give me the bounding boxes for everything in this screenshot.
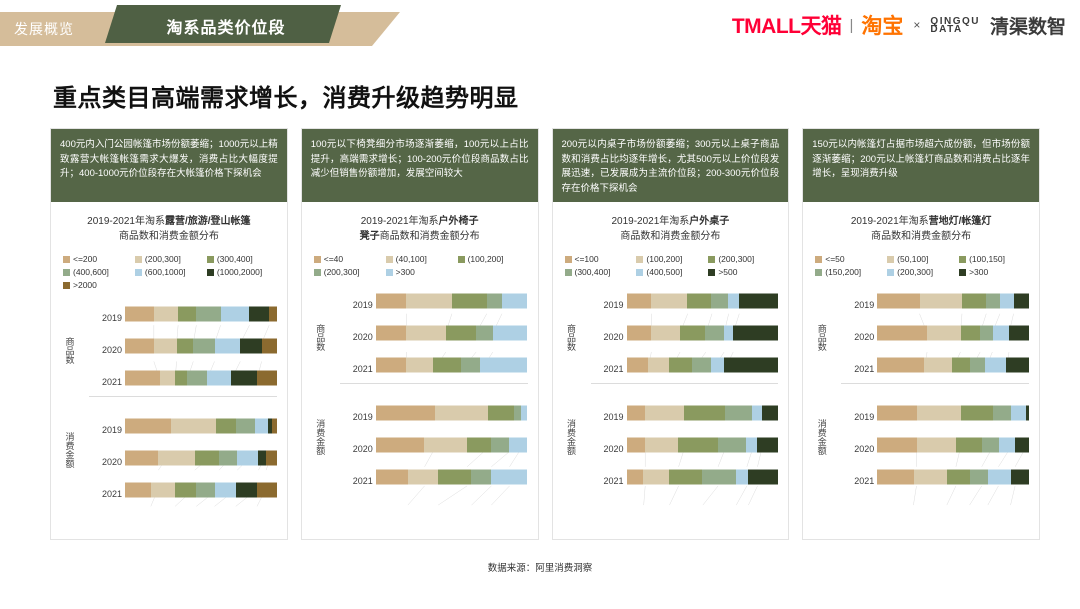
segment-connector-line [947, 486, 956, 505]
year-tick-label: 2021 [353, 364, 373, 374]
page-title: 重点类目高端需求增长，消费升级趋势明显 [53, 78, 519, 113]
chart-bar-segment [1026, 406, 1029, 421]
legend-label: (600,1000] [145, 267, 186, 277]
chart-bar-segment [376, 326, 406, 341]
stacked-bar-chart: 商品数消费金额201920202021201920202021 [559, 281, 783, 535]
chart-bar-segment [993, 406, 1011, 421]
chart-bar-segment [158, 451, 194, 466]
chart-bar-segment [627, 326, 651, 341]
legend-label: (200,300] [897, 267, 933, 277]
chart-bar-segment [718, 438, 747, 453]
chart-bar-segment [678, 438, 717, 453]
year-tick-label: 2020 [102, 345, 122, 355]
chart-group-axis: 商品数消费金额 [811, 285, 845, 529]
chart-bar-segment [487, 294, 502, 309]
chart-bar-segment [193, 339, 214, 354]
chart-bar-segment [952, 358, 970, 373]
legend-item[interactable]: (400,600] [63, 267, 133, 277]
year-tick-label: 2020 [353, 332, 373, 342]
chart-bar-segment [461, 358, 481, 373]
legend-item[interactable]: (200,300] [135, 254, 205, 264]
chart-bar[interactable] [376, 470, 528, 485]
legend-item[interactable]: >500 [708, 267, 778, 277]
chart-bar-segment [724, 358, 779, 373]
chart-bar-segment [877, 470, 913, 485]
chart-bar-segment [1011, 406, 1026, 421]
chart-bar[interactable] [627, 438, 779, 453]
chart-bar-segment [1009, 326, 1029, 341]
legend-swatch-icon [815, 256, 822, 263]
qingqu-data-logo: QINGQU DATA [930, 16, 980, 34]
group-separator [89, 396, 277, 397]
chart-bar-segment [262, 339, 277, 354]
chart-bar-segment [752, 406, 761, 421]
chart-bar-segment [196, 483, 214, 498]
tmall-logo: TMALL天猫 [732, 10, 842, 40]
chart-title-line1: 2019-2021年淘系户外椅子 [312, 215, 528, 230]
chart-bar[interactable] [376, 406, 528, 421]
panel-insight-note: 400元内入门公园帐篷市场份额萎缩；1000元以上精致露营大帐篷帐篷需求大爆发，… [51, 129, 287, 202]
segment-connector-line [702, 486, 717, 505]
legend-item[interactable]: (150,200] [815, 267, 885, 277]
year-tick-label: 2019 [603, 300, 623, 310]
chart-bar-segment [215, 483, 236, 498]
chart-bar[interactable] [125, 451, 277, 466]
year-tick-label: 2021 [854, 364, 874, 374]
chart-bar[interactable] [125, 483, 277, 498]
segment-connector-line [491, 486, 509, 505]
chart-bar-segment [488, 406, 514, 421]
chart-bar-segment [739, 294, 778, 309]
chart-bar-segment [171, 419, 217, 434]
chart-legend: <=50(50,100](100,150](150,200](200,300]>… [809, 248, 1033, 281]
legend-label: (200,300] [324, 267, 360, 277]
chart-bar-segment [509, 438, 527, 453]
legend-label: <=100 [575, 254, 599, 264]
chart-bar-segment [1006, 358, 1029, 373]
chart-bar[interactable] [125, 419, 277, 434]
chart-bar-segment [219, 451, 237, 466]
axis-group-label: 商品数 [314, 299, 328, 375]
chart-bar-segment [272, 419, 277, 434]
axis-group-label: 消费金额 [314, 399, 328, 475]
chart-bar-segment [175, 371, 187, 386]
legend-item[interactable]: (100,150] [959, 254, 1029, 264]
year-tick-label: 2021 [353, 476, 373, 486]
chart-bar-segment [993, 326, 1010, 341]
segment-connector-line [970, 486, 982, 505]
chart-bar-segment [645, 406, 684, 421]
chart-bar-segment [627, 358, 648, 373]
axis-group-label: 商品数 [63, 312, 77, 388]
chart-title-line2: 商品数和消费金额分布 [813, 230, 1029, 245]
legend-item[interactable]: <=50 [815, 254, 885, 264]
legend-item[interactable]: (200,300] [314, 267, 384, 277]
chart-bar-segment [376, 470, 408, 485]
year-tick-label: 2019 [353, 300, 373, 310]
axis-group-label: 商品数 [815, 299, 829, 375]
logo-cross-icon: × [913, 18, 920, 32]
chart-title: 2019-2021年淘系露营/旅游/登山帐篷商品数和消费金额分布 [57, 208, 281, 248]
stacked-bar-chart: 商品数消费金额201920202021201920202021 [809, 281, 1033, 535]
chart-bar[interactable] [877, 406, 1029, 421]
chart-year-axis: 201920202021201920202021 [845, 285, 877, 529]
chart-bar-segment [258, 451, 266, 466]
chart-bar-segment [125, 451, 158, 466]
legend-item[interactable]: (100,200] [458, 254, 528, 264]
legend-item[interactable]: <=40 [314, 254, 384, 264]
chart-bar[interactable] [877, 358, 1029, 373]
chart-bar-segment [705, 326, 723, 341]
qingqu-logo-cn: 清渠数智 [990, 12, 1066, 39]
legend-label: (200,300] [145, 254, 181, 264]
chart-bar-segment [269, 307, 277, 322]
chart-title-line1: 2019-2021年淘系露营/旅游/登山帐篷 [61, 215, 277, 230]
chart-bar-segment [502, 294, 528, 309]
axis-group-label: 商品数 [565, 299, 579, 375]
chart-bar-segment [970, 358, 985, 373]
chart-bar-segment [687, 294, 711, 309]
chart-bar[interactable] [376, 358, 528, 373]
legend-label: (100,200] [468, 254, 504, 264]
legend-label: (150,200] [825, 267, 861, 277]
year-tick-label: 2019 [854, 412, 874, 422]
chart-bar-segment [914, 470, 947, 485]
chart-year-axis: 201920202021201920202021 [344, 285, 376, 529]
chart-bar[interactable] [627, 326, 779, 341]
chart-bar-segment [643, 470, 669, 485]
chart-bar-segment [125, 371, 160, 386]
panel-body: 2019-2021年淘系户外桌子商品数和消费金额分布<=100(100,200]… [553, 202, 789, 539]
chart-legend: <=100(100,200](200,300](300,400](400,500… [559, 248, 783, 281]
chart-bar[interactable] [376, 294, 528, 309]
legend-label: >500 [718, 267, 737, 277]
chart-bar[interactable] [125, 307, 277, 322]
chart-bar-segment [961, 326, 981, 341]
chart-bar-segment [684, 406, 725, 421]
legend-item[interactable]: (300,400] [207, 254, 277, 264]
chart-title-line1: 2019-2021年淘系户外桌子 [563, 215, 779, 230]
chart-bar-segment [376, 406, 435, 421]
legend-label: (300,400] [575, 267, 611, 277]
chart-panel: 150元以内帐篷灯占据市场超六成份额，但市场份额逐渐萎缩；200元以上帐篷灯商品… [802, 128, 1040, 540]
chart-bar-segment [927, 326, 960, 341]
logo-separator: | [850, 17, 854, 34]
chart-bar-segment [257, 483, 277, 498]
legend-swatch-icon [386, 269, 393, 276]
chart-bar-segment [980, 326, 992, 341]
chart-bar-segment [160, 371, 175, 386]
chart-bar[interactable] [877, 294, 1029, 309]
chart-bar-segment [962, 294, 986, 309]
chart-bar-segment [125, 339, 154, 354]
legend-item[interactable]: (1000,2000] [207, 267, 277, 277]
chart-bar-segment [216, 419, 236, 434]
legend-swatch-icon [636, 256, 643, 263]
legend-item[interactable]: >300 [386, 267, 456, 277]
year-tick-label: 2019 [603, 412, 623, 422]
axis-group-label: 消费金额 [63, 412, 77, 488]
chart-bar-segment [1011, 470, 1029, 485]
legend-swatch-icon [887, 256, 894, 263]
chart-bar-segment [187, 371, 207, 386]
legend-swatch-icon [959, 256, 966, 263]
legend-item[interactable]: <=200 [63, 254, 133, 264]
brand-logo-group: TMALL天猫 | 淘宝 × QINGQU DATA 清渠数智 [732, 10, 1066, 40]
legend-label: <=40 [324, 254, 343, 264]
legend-label: (100,200] [646, 254, 682, 264]
legend-label: >2000 [73, 280, 97, 290]
chart-bar-segment [125, 419, 171, 434]
chart-bar-segment [376, 358, 406, 373]
chart-bar-segment [236, 483, 257, 498]
chart-bar-segment [491, 470, 527, 485]
chart-bar-segment [627, 470, 644, 485]
year-tick-label: 2021 [603, 476, 623, 486]
chart-bar-segment [467, 438, 491, 453]
panel-insight-note: 100元以下椅凳细分市场逐渐萎缩，100元以上占比提升，高端需求增长；100-2… [302, 129, 538, 202]
chart-bar-segment [231, 371, 257, 386]
chart-bar-segment [1014, 294, 1029, 309]
chart-bar-segment [961, 406, 993, 421]
legend-swatch-icon [458, 256, 465, 263]
page-header: 发展概览 淘系品类价位段 TMALL天猫 | 淘宝 × QINGQU DATA … [0, 0, 1080, 58]
chart-panels-row: 400元内入门公园帐篷市场份额萎缩；1000元以上精致露营大帐篷帐篷需求大爆发，… [50, 128, 1040, 540]
chart-plot-area [877, 285, 1029, 529]
legend-swatch-icon [135, 256, 142, 263]
chart-bar-segment [985, 358, 1006, 373]
year-tick-label: 2020 [854, 444, 874, 454]
legend-item[interactable]: (300,400] [565, 267, 635, 277]
chart-bar-segment [178, 307, 196, 322]
chart-bar-segment [1015, 438, 1029, 453]
segment-connector-line [643, 486, 645, 505]
legend-swatch-icon [887, 269, 894, 276]
legend-label: (40,100] [396, 254, 427, 264]
chart-bar-segment [237, 451, 258, 466]
chart-bar[interactable] [877, 438, 1029, 453]
chart-bar-segment [986, 294, 1000, 309]
chart-bar-segment [924, 358, 951, 373]
legend-label: (1000,2000] [217, 267, 262, 277]
legend-item[interactable]: >300 [959, 267, 1029, 277]
legend-item[interactable]: (40,100] [386, 254, 456, 264]
chart-bar-segment [748, 470, 778, 485]
year-tick-label: 2020 [603, 444, 623, 454]
chart-bar-segment [493, 326, 528, 341]
chart-bar-segment [476, 326, 493, 341]
chart-bar-segment [1000, 294, 1014, 309]
panel-insight-note: 200元以内桌子市场份额萎缩；300元以上桌子商品数和消费占比均逐年增长，尤其5… [553, 129, 789, 202]
chart-bar-segment [221, 307, 250, 322]
header-tab-label[interactable]: 发展概览 [14, 19, 74, 39]
legend-swatch-icon [959, 269, 966, 276]
chart-bar-segment [627, 438, 645, 453]
chart-bar-segment [249, 307, 269, 322]
year-tick-label: 2020 [603, 332, 623, 342]
chart-bar-segment [736, 470, 748, 485]
year-tick-label: 2019 [854, 300, 874, 310]
legend-swatch-icon [207, 256, 214, 263]
panel-body: 2019-2021年淘系露营/旅游/登山帐篷商品数和消费金额分布<=200(20… [51, 202, 287, 539]
segment-connector-line [748, 486, 757, 505]
segment-connector-line [408, 486, 425, 505]
legend-item[interactable]: (50,100] [887, 254, 957, 264]
legend-label: (200,300] [718, 254, 754, 264]
chart-bar-segment [877, 294, 919, 309]
chart-bar-segment [692, 358, 712, 373]
panel-insight-note: 150元以内帐篷灯占据市场超六成份额，但市场份额逐渐萎缩；200元以上帐篷灯商品… [803, 129, 1039, 202]
chart-bar-segment [680, 326, 706, 341]
chart-bar[interactable] [627, 406, 779, 421]
chart-bar-segment [452, 294, 487, 309]
chart-bar-segment [757, 438, 778, 453]
chart-bar-segment [762, 406, 779, 421]
legend-swatch-icon [708, 269, 715, 276]
segment-connector-line [914, 486, 917, 505]
chart-bar-segment [999, 438, 1016, 453]
legend-label: (400,500] [646, 267, 682, 277]
chart-bar[interactable] [125, 371, 277, 386]
chart-bar-segment [920, 294, 962, 309]
data-source-note: 数据来源：阿里消费洞察 [0, 560, 1080, 574]
legend-item[interactable]: (400,500] [636, 267, 706, 277]
legend-label: (400,600] [73, 267, 109, 277]
chart-bar-segment [376, 438, 425, 453]
chart-title: 2019-2021年淘系户外椅子凳子商品数和消费金额分布 [308, 208, 532, 248]
year-tick-label: 2020 [102, 457, 122, 467]
legend-swatch-icon [636, 269, 643, 276]
legend-label: >300 [969, 267, 988, 277]
year-tick-label: 2020 [854, 332, 874, 342]
chart-bar-segment [215, 339, 241, 354]
legend-label: >300 [396, 267, 415, 277]
legend-label: (100,150] [969, 254, 1005, 264]
chart-bar-segment [240, 339, 261, 354]
chart-bar-segment [877, 358, 924, 373]
group-separator [340, 383, 528, 384]
legend-item[interactable]: (200,300] [887, 267, 957, 277]
chart-bar-segment [257, 371, 277, 386]
group-separator [841, 383, 1029, 384]
chart-group-axis: 商品数消费金额 [310, 285, 344, 529]
chart-title-line2: 凳子商品数和消费金额分布 [312, 230, 528, 245]
chart-bar-segment [125, 483, 151, 498]
year-tick-label: 2019 [102, 425, 122, 435]
chart-bar[interactable] [627, 358, 779, 373]
legend-swatch-icon [708, 256, 715, 263]
segment-connector-line [1011, 486, 1016, 505]
qingqu-logo-line2: DATA [930, 26, 980, 34]
stacked-bar-chart: 商品数消费金额201920202021201920202021 [57, 294, 281, 535]
chart-bar-segment [406, 358, 433, 373]
chart-bar-segment [255, 419, 267, 434]
chart-bar-segment [151, 483, 175, 498]
chart-bar[interactable] [627, 294, 779, 309]
chart-bar-segment [627, 406, 645, 421]
year-tick-label: 2020 [353, 444, 373, 454]
legend-item[interactable]: (200,300] [708, 254, 778, 264]
chart-bar-segment [471, 470, 491, 485]
chart-bar-segment [947, 470, 970, 485]
chart-bar-segment [376, 294, 406, 309]
chart-bar-segment [970, 470, 988, 485]
segment-connector-line [438, 486, 467, 505]
chart-bar-segment [406, 326, 445, 341]
legend-swatch-icon [207, 269, 214, 276]
chart-bar-segment [877, 326, 927, 341]
segment-connector-line [669, 486, 678, 505]
chart-bar[interactable] [376, 438, 528, 453]
legend-item[interactable]: (600,1000] [135, 267, 205, 277]
chart-legend: <=200(200,300](300,400](400,600](600,100… [57, 248, 281, 294]
segment-connector-line [471, 486, 491, 505]
year-tick-label: 2021 [102, 489, 122, 499]
chart-group-axis: 商品数消费金额 [59, 298, 93, 529]
chart-bar[interactable] [877, 470, 1029, 485]
year-tick-label: 2021 [603, 364, 623, 374]
legend-item[interactable]: (100,200] [636, 254, 706, 264]
stacked-bar-chart: 商品数消费金额201920202021201920202021 [308, 281, 532, 535]
chart-bar[interactable] [376, 326, 528, 341]
chart-bar-segment [438, 470, 471, 485]
chart-bar[interactable] [125, 339, 277, 354]
chart-bar-segment [982, 438, 999, 453]
chart-bar-segment [645, 438, 678, 453]
legend-label: <=50 [825, 254, 844, 264]
chart-bar-segment [728, 294, 739, 309]
legend-swatch-icon [565, 269, 572, 276]
chart-bar-segment [988, 470, 1011, 485]
chart-bar-segment [648, 358, 669, 373]
chart-bar[interactable] [877, 326, 1029, 341]
chart-bar-segment [480, 358, 527, 373]
chart-bar[interactable] [627, 470, 779, 485]
chart-bar-segment [877, 438, 916, 453]
legend-item[interactable]: <=100 [565, 254, 635, 264]
chart-bar-segment [521, 406, 527, 421]
chart-plot-area [376, 285, 528, 529]
chart-year-axis: 201920202021201920202021 [93, 298, 125, 529]
chart-panel: 200元以内桌子市场份额萎缩；300元以上桌子商品数和消费占比均逐年增长，尤其5… [552, 128, 790, 540]
taobao-logo: 淘宝 [861, 10, 903, 40]
chart-bar-segment [196, 307, 220, 322]
legend-swatch-icon [314, 256, 321, 263]
chart-bar-segment [917, 438, 956, 453]
legend-swatch-icon [314, 269, 321, 276]
legend-swatch-icon [63, 269, 70, 276]
legend-swatch-icon [565, 256, 572, 263]
chart-bar-segment [711, 358, 723, 373]
chart-bar-segment [669, 470, 702, 485]
chart-bar-segment [651, 294, 687, 309]
chart-bar-segment [195, 451, 219, 466]
chart-bar-segment [711, 294, 728, 309]
legend-label: (300,400] [217, 254, 253, 264]
legend-item[interactable]: >2000 [63, 280, 133, 290]
chart-bar-segment [236, 419, 256, 434]
chart-bar-segment [725, 406, 752, 421]
legend-label: (50,100] [897, 254, 928, 264]
chart-title-line2: 商品数和消费金额分布 [563, 230, 779, 245]
legend-swatch-icon [386, 256, 393, 263]
chart-bar-segment [408, 470, 438, 485]
chart-legend: <=40(40,100](100,200](200,300]>300 [308, 248, 532, 281]
chart-bar-segment [669, 358, 692, 373]
year-tick-label: 2019 [102, 313, 122, 323]
chart-bar-segment [746, 438, 757, 453]
chart-bar-segment [446, 326, 476, 341]
